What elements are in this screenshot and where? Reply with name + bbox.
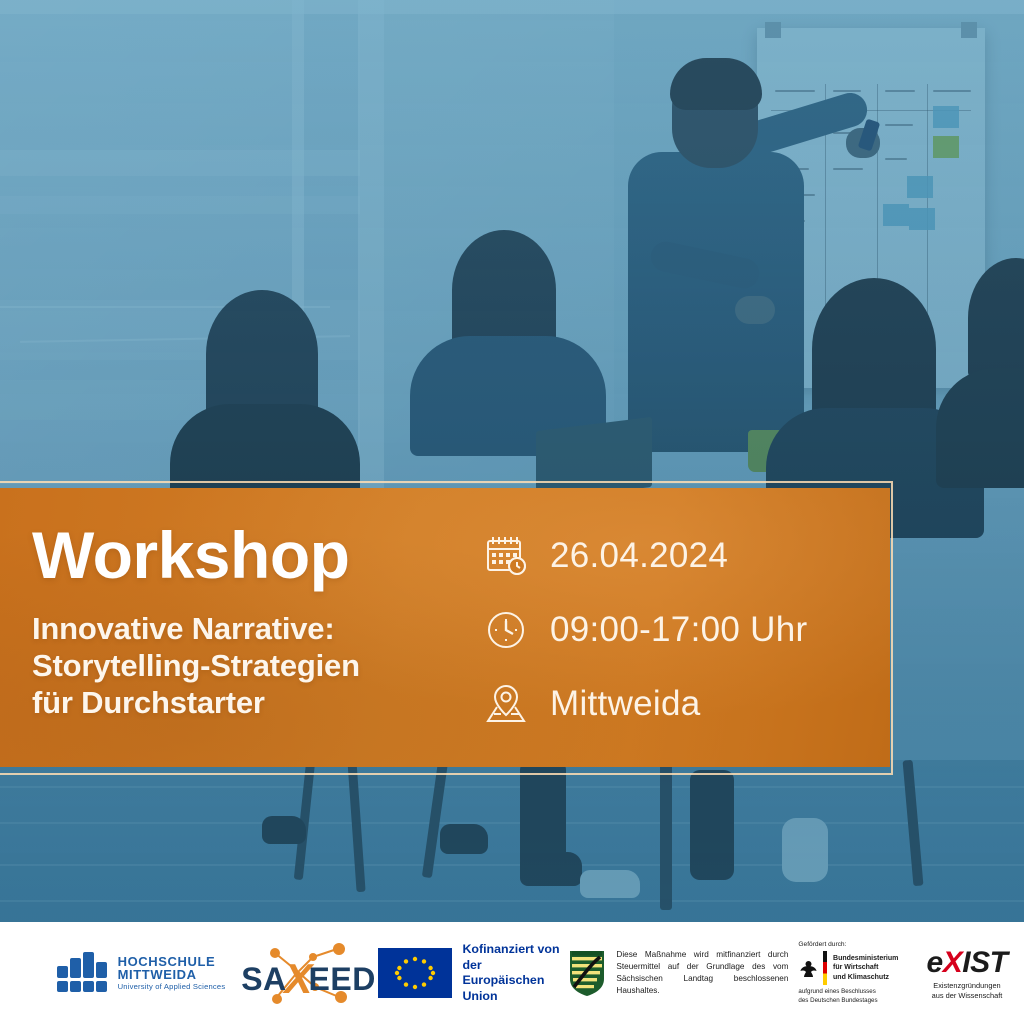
clock-icon (482, 605, 532, 655)
bmwk-bottom-line-2: des Deutschen Bundestages (798, 997, 877, 1005)
logo-hochschule-mittweida: HOCHSCHULE MITTWEIDA University of Appli… (0, 922, 236, 1024)
bmwk-name-line-1: Bundesministerium (833, 954, 898, 963)
event-location-row: Mittweida (482, 676, 890, 732)
hochschule-mark-icon (57, 952, 109, 994)
eu-line-1: Kofinanziert von der (462, 942, 568, 973)
event-details: 26.04.2024 09:00-17:00 Uhr (470, 488, 890, 750)
exist-pre: e (927, 946, 943, 979)
bmwk-mark: Bundesministerium für Wirtschaft und Kli… (800, 951, 898, 985)
sponsor-logo-bar: HOCHSCHULE MITTWEIDA University of Appli… (0, 922, 1024, 1024)
eu-line-2: Europäischen Union (462, 973, 568, 1004)
federal-eagle-icon (800, 959, 817, 978)
exist-post: IST (962, 946, 1007, 979)
bmwk-bottom-text: aufgrund eines Beschlusses des Deutschen… (788, 988, 877, 1005)
saxeed-x-icon: X (284, 955, 312, 1003)
saxony-funding-text: Diese Maßnahme wird mitfinanziert durch … (616, 949, 788, 997)
hochschule-line-2: MITTWEIDA (118, 968, 226, 981)
exist-wordmark: eXIST (927, 946, 1008, 980)
event-banner: Workshop Innovative Narrative: Storytell… (0, 488, 890, 767)
event-date-row: 26.04.2024 (482, 528, 890, 584)
event-subtitle: Innovative Narrative: Storytelling-Strat… (32, 610, 470, 722)
hochschule-line-3: University of Applied Sciences (118, 983, 226, 991)
exist-x-icon: X (943, 946, 963, 979)
meeting-room-scene (0, 0, 1024, 922)
hochschule-wordmark: HOCHSCHULE MITTWEIDA University of Appli… (118, 955, 226, 992)
bmwk-top-text: Gefördert durch: (788, 941, 846, 948)
bmwk-name-line-3: und Klimaschutz (833, 973, 898, 982)
logo-bmwk: Gefördert durch: Bundesministerium für W… (788, 922, 910, 1024)
logo-exist: eXIST Existenzgründungen aus der Wissens… (910, 922, 1024, 1024)
eu-funding-text: Kofinanziert von der Europäischen Union (462, 942, 568, 1004)
logo-saxeed: SAXEED X (236, 922, 378, 1024)
banner-text-block: Workshop Innovative Narrative: Storytell… (0, 488, 470, 722)
calendar-icon (482, 531, 532, 581)
background-photo (0, 0, 1024, 922)
subtitle-line-1: Innovative Narrative: (32, 610, 470, 647)
bmwk-name: Bundesministerium für Wirtschaft und Kli… (833, 954, 898, 982)
exist-sub-line-2: aus der Wissenschaft (932, 991, 1003, 1001)
bmwk-name-line-2: für Wirtschaft (833, 963, 898, 972)
event-location: Mittweida (550, 684, 701, 724)
logo-european-union: Kofinanziert von der Europäischen Union (378, 922, 568, 1024)
subtitle-line-2: Storytelling-Strategien (32, 647, 470, 684)
bmwk-bottom-line-1: aufgrund eines Beschlusses (798, 988, 877, 996)
event-date: 26.04.2024 (550, 536, 728, 576)
german-flag-icon (823, 951, 827, 985)
eu-flag-icon (378, 948, 452, 998)
exist-sub-line-1: Existenzgründungen (932, 981, 1003, 991)
hochschule-line-1: HOCHSCHULE (118, 955, 226, 968)
exist-subtitle: Existenzgründungen aus der Wissenschaft (932, 981, 1003, 1000)
map-pin-icon (482, 679, 532, 729)
saxony-coat-of-arms-icon (568, 949, 606, 997)
photo-color-tint (0, 0, 1024, 922)
logo-saxony-funding: Diese Maßnahme wird mitfinanziert durch … (568, 922, 788, 1024)
subtitle-line-3: für Durchstarter (32, 684, 470, 721)
page-title: Workshop (32, 522, 470, 588)
event-time: 09:00-17:00 Uhr (550, 610, 807, 650)
event-poster: Workshop Innovative Narrative: Storytell… (0, 0, 1024, 1024)
event-time-row: 09:00-17:00 Uhr (482, 602, 890, 658)
saxeed-wordmark: SAXEED X (241, 941, 373, 1005)
